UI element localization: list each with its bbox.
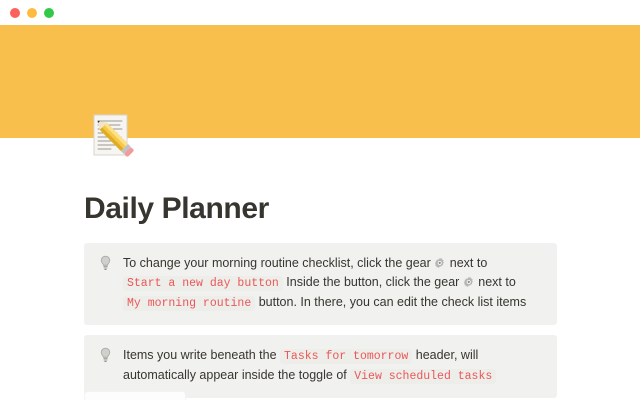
code-span-start-a-new-day-button: Start a new day button xyxy=(123,276,283,291)
zoom-window-button[interactable] xyxy=(44,8,54,18)
app-window: Daily Planner To change your morning rou… xyxy=(0,0,640,400)
callout-text: To change your morning routine checklist… xyxy=(123,254,543,313)
memo-emoji-icon[interactable] xyxy=(86,109,138,161)
code-span-view-scheduled-tasks: View scheduled tasks xyxy=(350,369,496,384)
minimize-window-button[interactable] xyxy=(27,8,37,18)
gear-icon xyxy=(434,256,446,268)
code-span-tasks-for-tomorrow: Tasks for tomorrow xyxy=(280,349,412,364)
callout-text-part: Items you write beneath the xyxy=(123,348,280,362)
lightbulb-icon xyxy=(96,254,114,272)
traffic-light-group xyxy=(10,8,54,18)
callout-text-part: button. In there, you can edit the check… xyxy=(255,295,526,309)
callout-text-part: Inside the button, click the gear xyxy=(283,275,463,289)
callout-block[interactable]: Items you write beneath the Tasks for to… xyxy=(84,335,557,398)
page-body: Daily Planner To change your morning rou… xyxy=(0,138,640,400)
code-span-my-morning-routine: My morning routine xyxy=(123,296,255,311)
partial-block-below-fold xyxy=(84,391,186,400)
callout-text-part: next to xyxy=(446,256,487,270)
gear-icon xyxy=(463,275,475,287)
window-titlebar xyxy=(0,0,640,25)
callout-text: Items you write beneath the Tasks for to… xyxy=(123,346,543,386)
page-content: To change your morning routine checklist… xyxy=(0,243,557,398)
lightbulb-icon xyxy=(96,346,114,364)
callout-text-part: next to xyxy=(475,275,516,289)
callout-block[interactable]: To change your morning routine checklist… xyxy=(84,243,557,325)
callout-text-part: To change your morning routine checklist… xyxy=(123,256,434,270)
close-window-button[interactable] xyxy=(10,8,20,18)
